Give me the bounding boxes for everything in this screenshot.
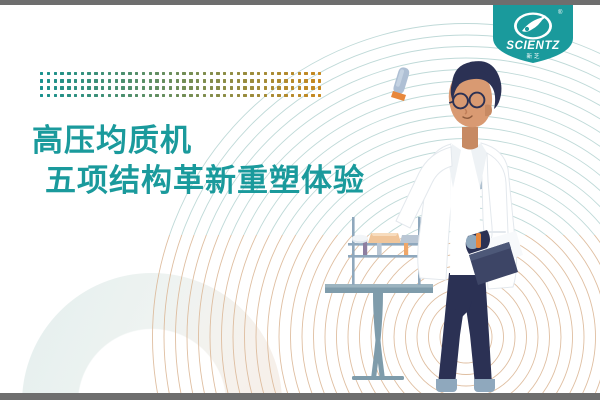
dot: [196, 94, 199, 97]
ring: [337, 208, 596, 400]
dot: [121, 72, 124, 75]
dot: [277, 79, 280, 82]
dot: [115, 94, 118, 97]
dot: [169, 79, 172, 82]
shoe-right: [474, 379, 495, 392]
dot: [196, 79, 199, 82]
dot: [67, 86, 70, 89]
dot: [189, 72, 192, 75]
dot: [284, 86, 287, 89]
dot: [40, 86, 43, 89]
dot: [264, 94, 267, 97]
page-title: 高压均质机 五项结构革新重塑体验: [32, 121, 365, 202]
dot: [142, 79, 145, 82]
dot: [47, 79, 50, 82]
specimen-box: [368, 233, 401, 243]
logo-trademark: ®: [558, 9, 563, 16]
dot: [250, 79, 253, 82]
ring: [360, 231, 573, 400]
dot: [250, 94, 253, 97]
dot: [162, 79, 165, 82]
dot: [237, 79, 240, 82]
dot: [169, 94, 172, 97]
dot: [108, 79, 111, 82]
ring: [325, 196, 600, 400]
ring: [302, 173, 600, 400]
dot: [101, 94, 104, 97]
ring: [383, 254, 550, 400]
dot: [243, 72, 246, 75]
dot: [60, 79, 63, 82]
dot: [298, 94, 301, 97]
ring: [429, 300, 504, 375]
reagent-bottle-3: [404, 236, 408, 255]
dot: [216, 72, 219, 75]
dot: [304, 72, 307, 75]
dot: [264, 79, 267, 82]
ring: [406, 277, 527, 398]
dot: [230, 86, 233, 89]
reagent-bottle-1: [363, 237, 367, 255]
dot: [128, 72, 131, 75]
dot: [176, 79, 179, 82]
lab-coat-icon: [396, 141, 517, 289]
dot: [162, 72, 165, 75]
dot: [142, 86, 145, 89]
dot: [135, 94, 138, 97]
dot: [94, 94, 97, 97]
dot: [155, 86, 158, 89]
dot: [271, 86, 274, 89]
dot: [304, 86, 307, 89]
dot: [67, 94, 70, 97]
dot: [230, 79, 233, 82]
dot: [115, 79, 118, 82]
dot: [87, 86, 90, 89]
ring: [360, 231, 573, 400]
dot: [182, 94, 185, 97]
dot: [223, 72, 226, 75]
dot: [176, 86, 179, 89]
decorative-donut: [22, 273, 282, 400]
dot: [67, 79, 70, 82]
dot: [298, 79, 301, 82]
dot: [60, 86, 63, 89]
dot: [257, 86, 260, 89]
neck: [462, 127, 478, 150]
dot: [94, 86, 97, 89]
dot: [311, 72, 314, 75]
ring: [314, 185, 600, 400]
dot: [291, 94, 294, 97]
dot: [243, 86, 246, 89]
ring: [348, 219, 584, 400]
dot: [128, 94, 131, 97]
ring: [337, 208, 596, 400]
dot: [40, 79, 43, 82]
head-icon: [449, 61, 502, 127]
dot: [128, 86, 131, 89]
dot: [155, 94, 158, 97]
dot: [304, 94, 307, 97]
ring: [440, 311, 492, 363]
dot: [155, 72, 158, 75]
dot: [223, 79, 226, 82]
dot-grid-row: [40, 72, 325, 79]
dot: [81, 79, 84, 82]
title-line-1: 高压均质机: [32, 121, 365, 161]
logo-brand-cn: 新 芝: [527, 52, 540, 60]
decorative-dot-grid: [40, 72, 325, 101]
dot: [298, 72, 301, 75]
dot: [101, 86, 104, 89]
dot: [250, 86, 253, 89]
shirt-icon: [445, 142, 487, 192]
dot: [284, 94, 287, 97]
dot: [40, 94, 43, 97]
glove-cuff: [391, 91, 406, 101]
dot: [74, 72, 77, 75]
forearm-icon: [466, 230, 490, 254]
dot: [277, 86, 280, 89]
dot: [250, 72, 253, 75]
ring: [314, 185, 600, 400]
dot: [271, 72, 274, 75]
dot: [108, 86, 111, 89]
ring: [302, 173, 600, 400]
dot: [162, 94, 165, 97]
dot: [284, 79, 287, 82]
dot: [94, 79, 97, 82]
dot: [169, 72, 172, 75]
dot: [81, 94, 84, 97]
dot: [257, 72, 260, 75]
dot: [223, 94, 226, 97]
dot: [182, 79, 185, 82]
shoe-left: [436, 379, 457, 392]
promo-banner: 高压均质机 五项结构革新重塑体验: [0, 0, 600, 400]
dot: [60, 72, 63, 75]
dot-grid-row: [40, 79, 325, 86]
ring: [394, 265, 538, 400]
dot: [291, 79, 294, 82]
ring: [348, 219, 584, 400]
dot: [94, 72, 97, 75]
dot: [121, 86, 124, 89]
dot: [203, 72, 206, 75]
dot: [271, 79, 274, 82]
ring: [417, 288, 515, 386]
dot: [318, 79, 321, 82]
ring: [406, 277, 527, 398]
dot: [189, 79, 192, 82]
dot-grid-row: [40, 94, 325, 101]
dot: [196, 72, 199, 75]
dot: [243, 79, 246, 82]
dot: [210, 72, 213, 75]
lab-bench-icon: [325, 217, 433, 380]
dot: [277, 94, 280, 97]
dot: [54, 72, 57, 75]
dot: [121, 94, 124, 97]
dot: [47, 72, 50, 75]
dot: [81, 86, 84, 89]
dot: [271, 94, 274, 97]
dot: [318, 86, 321, 89]
dot: [135, 86, 138, 89]
dot: [304, 79, 307, 82]
dot: [54, 94, 57, 97]
dot: [74, 94, 77, 97]
dot: [257, 79, 260, 82]
dot: [257, 94, 260, 97]
dot: [169, 86, 172, 89]
logo-brand-text: SCIENTZ: [506, 40, 560, 52]
dot: [243, 94, 246, 97]
dot: [67, 72, 70, 75]
dot: [176, 94, 179, 97]
dot: [54, 79, 57, 82]
dot: [142, 72, 145, 75]
pants-icon: [438, 273, 492, 385]
dot: [318, 72, 321, 75]
dot: [216, 94, 219, 97]
dot: [298, 86, 301, 89]
dot: [149, 72, 152, 75]
dot: [182, 72, 185, 75]
dot: [291, 86, 294, 89]
dot: [108, 94, 111, 97]
dot: [121, 79, 124, 82]
dot: [203, 79, 206, 82]
dot-grid-row: [40, 86, 325, 93]
ring: [394, 265, 538, 400]
dot: [216, 79, 219, 82]
dot: [101, 79, 104, 82]
ring: [371, 242, 561, 400]
dot: [87, 94, 90, 97]
dot: [237, 72, 240, 75]
dot: [47, 86, 50, 89]
dot: [135, 72, 138, 75]
dot: [311, 79, 314, 82]
dot: [230, 72, 233, 75]
dot: [135, 79, 138, 82]
dot: [155, 79, 158, 82]
petri-dish: [352, 236, 368, 244]
dot: [101, 72, 104, 75]
ring: [429, 300, 504, 375]
ring: [440, 311, 492, 363]
dot: [291, 72, 294, 75]
ring: [371, 242, 561, 400]
dot: [74, 79, 77, 82]
ring: [417, 288, 515, 386]
dot: [149, 86, 152, 89]
dot: [264, 72, 267, 75]
dot: [47, 94, 50, 97]
dot: [87, 79, 90, 82]
dot: [149, 94, 152, 97]
dot: [203, 94, 206, 97]
dot: [162, 86, 165, 89]
dot: [40, 72, 43, 75]
dot: [60, 94, 63, 97]
dot: [223, 86, 226, 89]
dot: [318, 94, 321, 97]
dot: [108, 72, 111, 75]
dot: [149, 79, 152, 82]
reagent-bottle-2: [377, 235, 382, 255]
dot: [203, 86, 206, 89]
dot: [54, 86, 57, 89]
dot: [311, 94, 314, 97]
logo-emblem-icon: [514, 13, 552, 40]
dot: [81, 72, 84, 75]
dot: [189, 86, 192, 89]
dot: [196, 86, 199, 89]
dot: [74, 86, 77, 89]
test-tube-icon: [391, 66, 411, 101]
dot: [237, 86, 240, 89]
dot: [182, 86, 185, 89]
dot: [115, 86, 118, 89]
dot: [210, 79, 213, 82]
dot: [237, 94, 240, 97]
dot: [216, 86, 219, 89]
scientz-logo[interactable]: ® SCIENTZ 新 芝: [491, 2, 575, 64]
dot: [284, 72, 287, 75]
dot: [264, 86, 267, 89]
dot: [210, 94, 213, 97]
ring: [325, 196, 600, 400]
ring: [383, 254, 550, 400]
dot: [142, 94, 145, 97]
dot: [128, 79, 131, 82]
dot: [210, 86, 213, 89]
dot: [176, 72, 179, 75]
title-line-2: 五项结构革新重塑体验: [45, 161, 365, 201]
dot: [311, 86, 314, 89]
clipboard-icon: [469, 231, 523, 285]
dot: [230, 94, 233, 97]
dot: [115, 72, 118, 75]
dot: [277, 72, 280, 75]
dot: [87, 72, 90, 75]
dot: [189, 94, 192, 97]
